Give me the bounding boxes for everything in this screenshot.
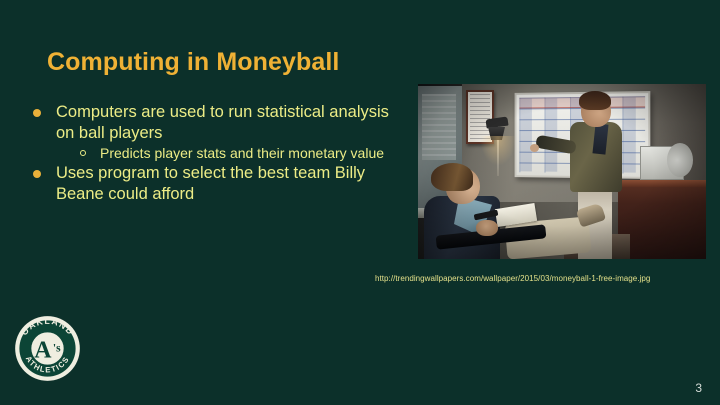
photo-office-equipment	[640, 146, 684, 180]
list-item: Computers are used to run statistical an…	[33, 102, 408, 143]
photo-lamp-glow	[480, 136, 516, 166]
bullet-disc-icon	[33, 109, 41, 117]
photo-source-caption: http://trendingwallpapers.com/wallpaper/…	[375, 274, 650, 283]
photo-seated-man-hair	[431, 163, 473, 191]
bullet-disc-icon	[33, 170, 41, 178]
photo-seated-man-hands	[476, 220, 498, 236]
list-item-label: Computers are used to run statistical an…	[56, 102, 408, 143]
logo-monogram-s: 's	[53, 343, 61, 355]
bullet-list: Computers are used to run statistical an…	[33, 102, 408, 205]
logo-monogram-a: A	[34, 338, 52, 364]
photo-scene	[418, 84, 706, 259]
photo-standing-man-hair	[579, 91, 611, 110]
oakland-athletics-logo: OAKLAND ATHLETICS A 's	[9, 310, 86, 387]
photo-standing-man-hand	[530, 144, 539, 152]
bullet-circle-icon	[80, 150, 86, 156]
list-item-label: Uses program to select the best team Bil…	[56, 163, 408, 204]
photo-desk-edge	[618, 180, 706, 187]
list-item: Uses program to select the best team Bil…	[33, 163, 408, 204]
slide: Computing in Moneyball Computers are use…	[0, 0, 720, 405]
list-item: Predicts player stats and their monetary…	[33, 144, 408, 162]
page-number: 3	[695, 381, 702, 395]
moneyball-photo	[418, 84, 706, 259]
photo-desk	[618, 180, 706, 259]
page-title: Computing in Moneyball	[47, 48, 339, 77]
list-item-label: Predicts player stats and their monetary…	[100, 144, 408, 162]
